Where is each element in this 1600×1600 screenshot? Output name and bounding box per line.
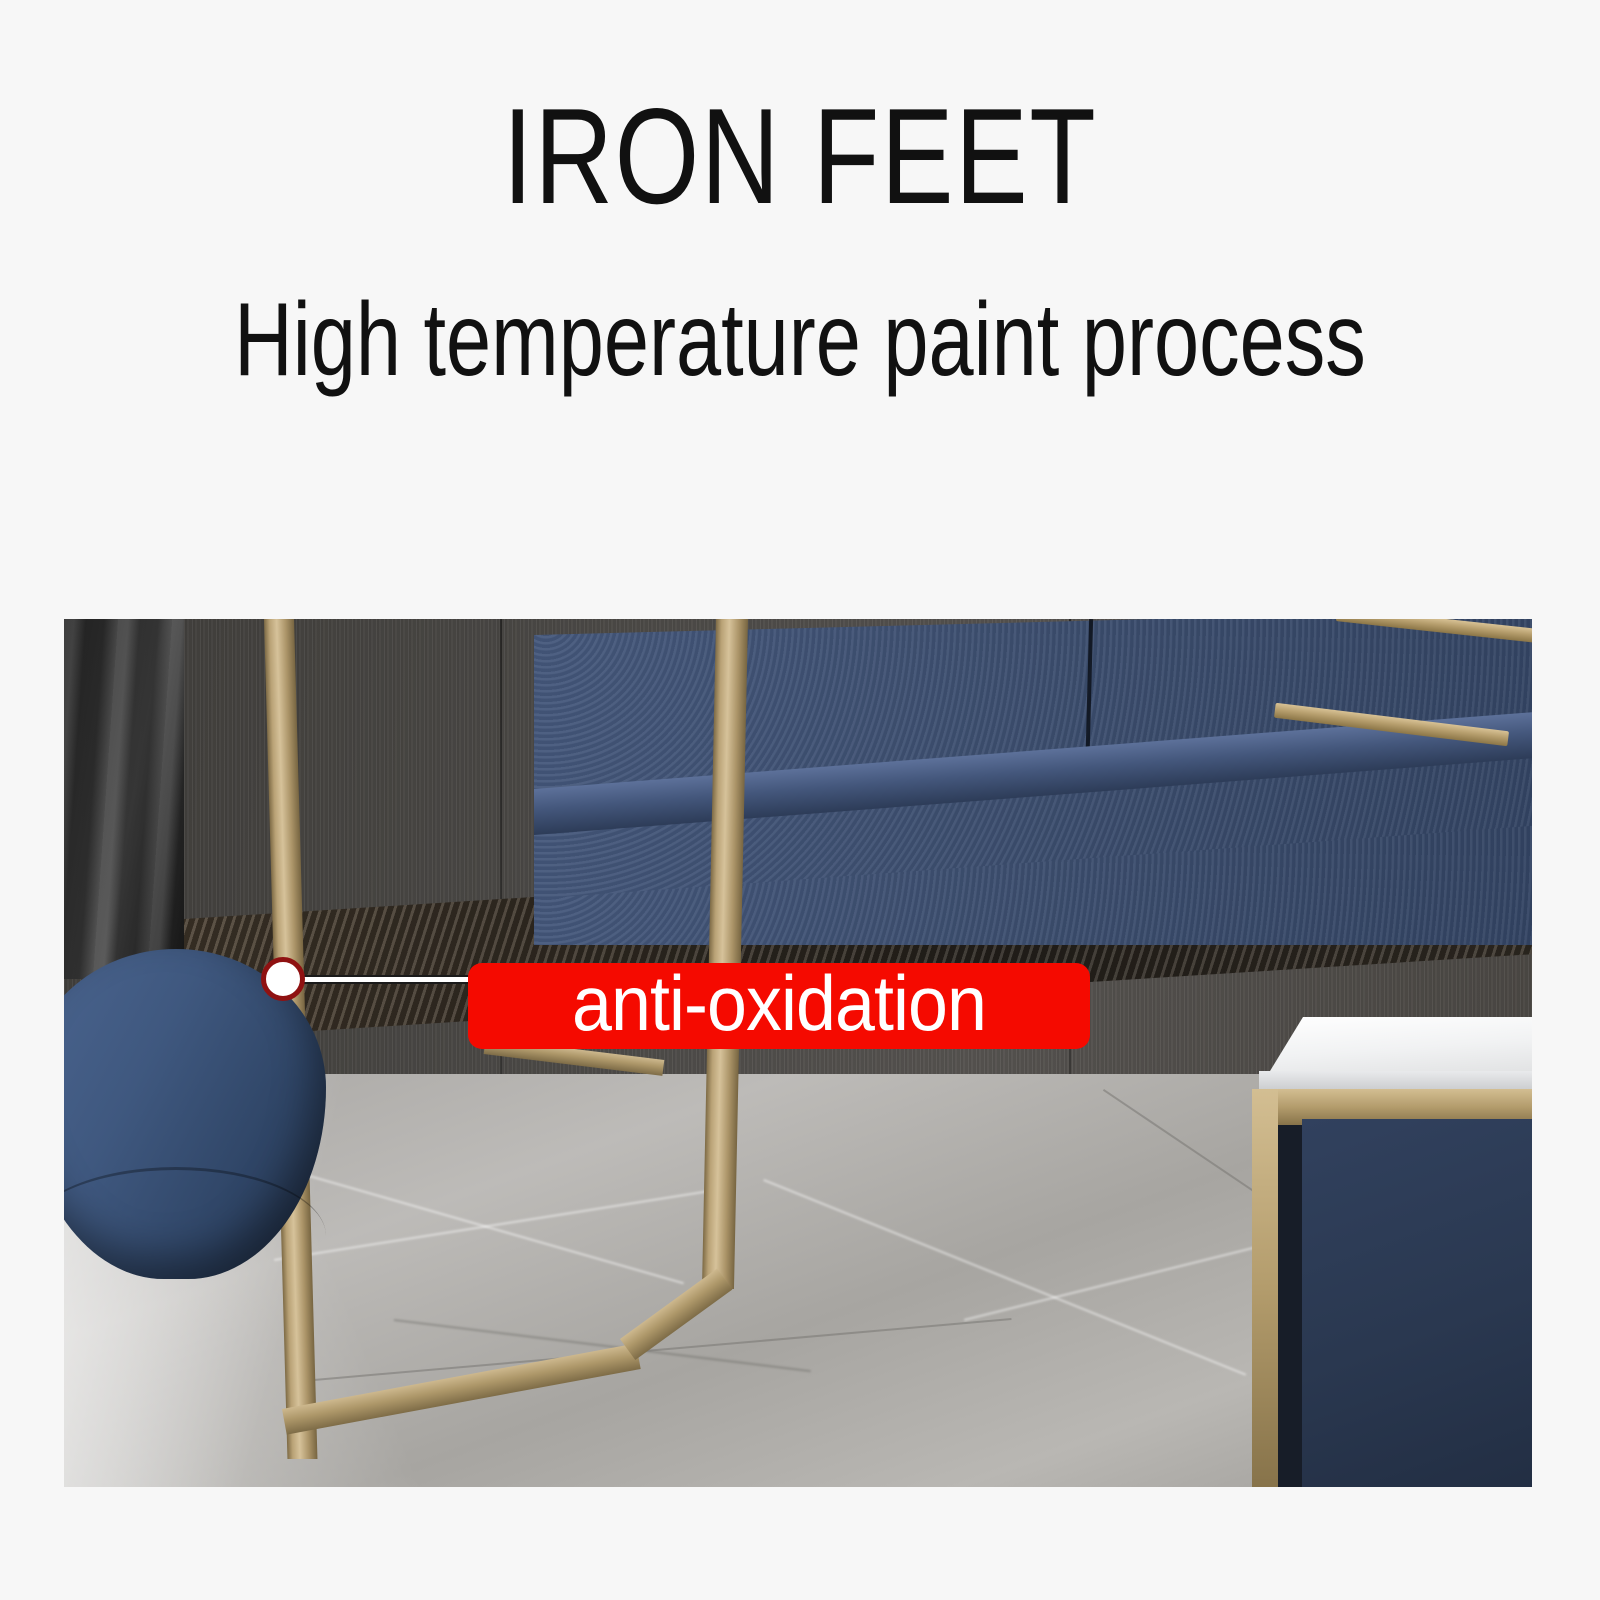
furniture-detail-photo	[64, 619, 1532, 1487]
page-subtitle: High temperature paint process	[176, 288, 1424, 392]
side-table-blue-panel	[1302, 1119, 1532, 1487]
status-badge-label: anti-oxidation	[493, 963, 1065, 1049]
side-table-inner-shadow	[1278, 1125, 1302, 1487]
status-badge: anti-oxidation	[468, 963, 1090, 1049]
callout-leader-line	[288, 975, 486, 984]
curtain	[64, 619, 184, 979]
side-table-frame-leg	[1252, 1089, 1278, 1487]
page-title: IRON FEET	[160, 88, 1440, 224]
product-feature-card: IRON FEET High temperature paint process	[0, 0, 1600, 1600]
callout-dot	[261, 957, 305, 1001]
